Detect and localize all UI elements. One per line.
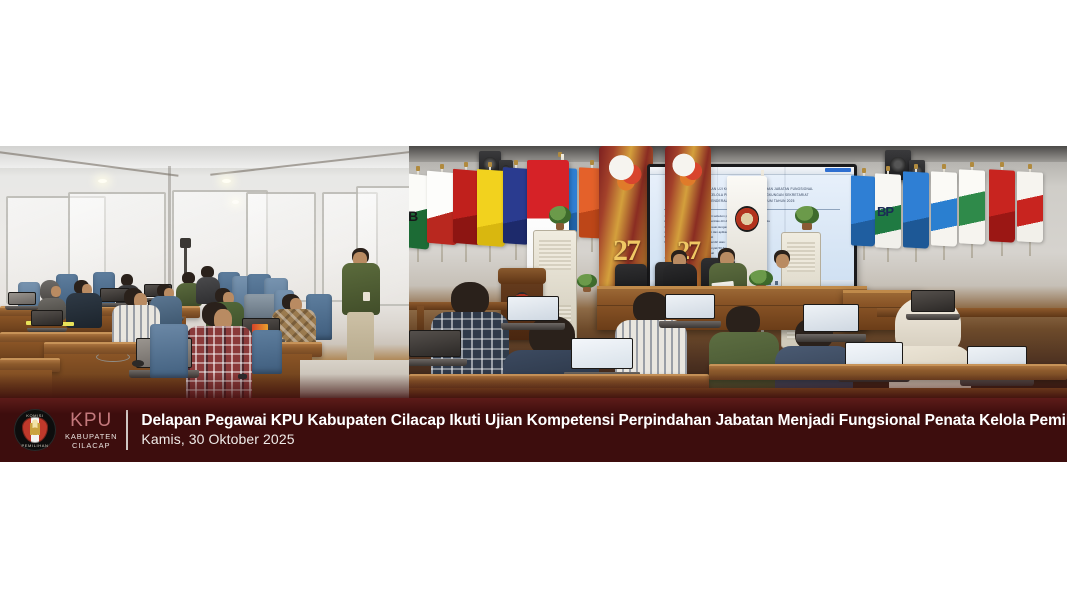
participant-person-foreground <box>186 302 252 400</box>
brand-wordmark: KPU KABUPATEN CILACAP <box>65 411 117 450</box>
flag-party-right <box>851 175 875 246</box>
training-room-scene <box>0 146 409 400</box>
ceiling-light <box>98 179 107 183</box>
news-banner-page: KB <box>0 0 1067 600</box>
brand-divider <box>126 410 128 450</box>
photo-right: KB <box>409 146 1067 400</box>
photo-strip: KB <box>0 146 1067 400</box>
caption-banner: KOMISI PEMILIHAN KPU KABUPATEN CILACAP D… <box>0 398 1067 462</box>
laptop <box>8 292 36 310</box>
laptop <box>409 330 461 366</box>
article-date: Kamis, 30 Oktober 2025 <box>141 432 1057 447</box>
flag-party-right <box>989 169 1015 242</box>
wristwatch <box>238 374 247 379</box>
flag-label: KB <box>409 208 417 224</box>
flag-party-right <box>903 171 929 248</box>
anniversary-bird-icon <box>603 150 649 194</box>
audience-desk <box>709 364 1067 380</box>
potted-plant <box>549 206 571 224</box>
audience-person <box>709 306 779 400</box>
ceiling-light <box>222 179 231 183</box>
table-plant <box>749 270 773 286</box>
brand-region-line2: CILACAP <box>72 442 110 450</box>
chair-front <box>150 324 188 378</box>
potted-plant <box>795 206 819 224</box>
desk-front <box>0 370 52 400</box>
mouse <box>132 360 144 367</box>
ceiling <box>0 146 409 168</box>
article-title: Delapan Pegawai KPU Kabupaten Cilacap Ik… <box>141 412 1057 429</box>
garuda-shield-icon <box>22 417 48 443</box>
caption-block: Delapan Pegawai KPU Kabupaten Cilacap Ik… <box>141 412 1067 447</box>
table-plant <box>577 274 597 288</box>
chair-front <box>252 330 282 374</box>
flag-label: BP <box>877 204 893 219</box>
kpu-flag-emblem-icon <box>735 206 759 232</box>
plenary-hall-scene: KB <box>409 146 1067 400</box>
kpu-seal-icon: KOMISI PEMILIHAN <box>14 409 56 451</box>
anniversary-number: 27 <box>599 234 653 268</box>
brand-block: KOMISI PEMILIHAN KPU KABUPATEN CILACAP <box>0 409 117 451</box>
id-card <box>363 292 370 301</box>
flag-perindo <box>931 171 957 246</box>
laptop <box>507 296 559 330</box>
photo-left <box>0 146 409 400</box>
brand-acronym: KPU <box>70 411 112 430</box>
garuda-bird-icon <box>28 423 43 435</box>
seal-ring-bottom-text: PEMILIHAN <box>14 443 56 448</box>
laptop <box>665 294 715 328</box>
anniversary-bird-icon <box>667 149 709 189</box>
flag-nasdem <box>503 167 529 245</box>
cable <box>96 352 130 362</box>
flag-golkar <box>477 169 505 247</box>
participant-person <box>66 280 102 328</box>
flag-hanura <box>959 169 985 244</box>
laptop <box>803 304 859 342</box>
laptop <box>911 290 955 320</box>
tripod-head <box>180 238 191 248</box>
laptop <box>31 310 63 332</box>
supervisor-standing <box>340 248 380 374</box>
floor-tiles <box>300 360 409 400</box>
brand-region-line1: KABUPATEN <box>65 433 117 441</box>
flag-party-right <box>1017 171 1043 242</box>
